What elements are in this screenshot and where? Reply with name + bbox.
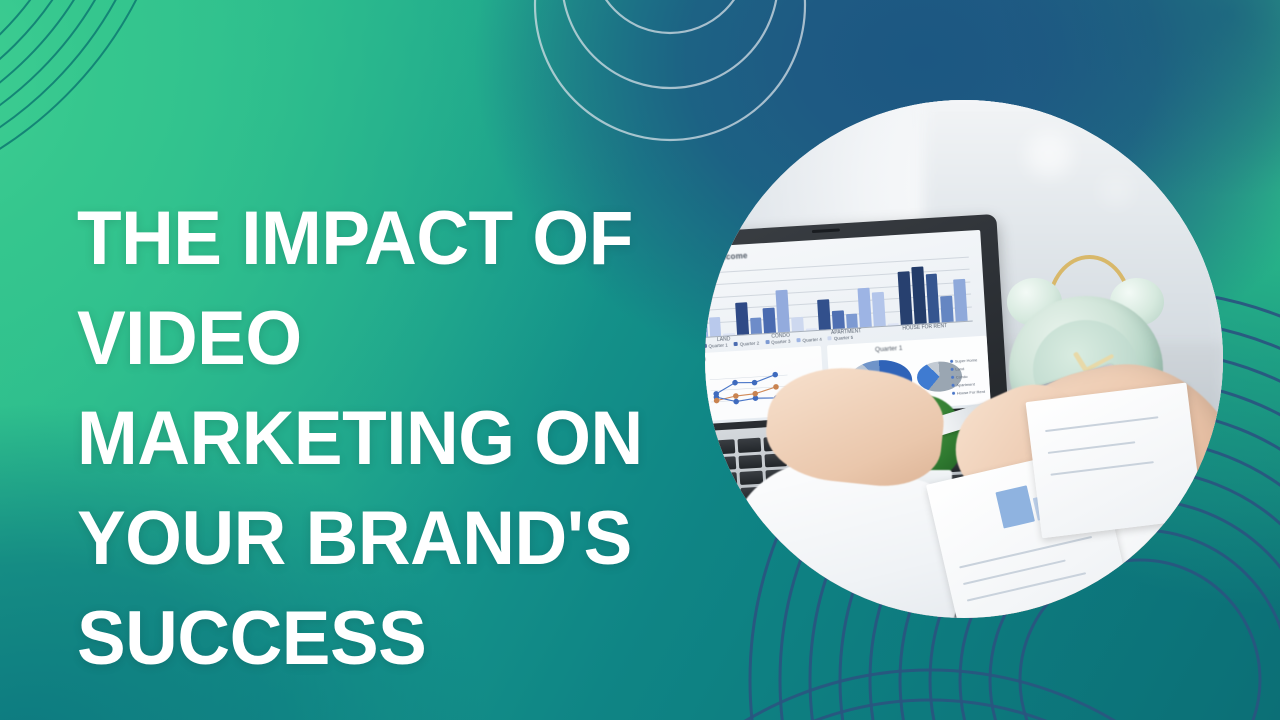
screen-bar-chart-title: Gross Income	[705, 251, 747, 263]
headline-line-4: YOUR BRAND'S	[77, 489, 653, 589]
bokeh-3	[1150, 121, 1178, 149]
laptop-camera-icon	[812, 229, 839, 234]
screen-pie-chart-title: Quarter 1	[874, 345, 902, 354]
pie-legend-3: Apartment	[956, 381, 975, 387]
circular-photo-business-analytics: Gross Income	[705, 100, 1223, 618]
headline-line-5: SUCCESS	[77, 589, 653, 689]
pie-legend-1: Land	[955, 366, 964, 372]
legend-q1: Quarter 1	[708, 342, 728, 348]
pie-chart-legend: Super Home Land Condo Apartment House Fo…	[949, 357, 984, 396]
headline-line-1: THE IMPACT OF	[77, 189, 653, 289]
screen-bar-chart: LAND CONDO APARTMENT HOUSE FOR RENT Quar…	[705, 252, 973, 347]
legend-q4: Quarter 4	[802, 337, 822, 343]
legend-q3: Quarter 3	[771, 338, 791, 344]
legend-q2: Quarter 2	[739, 340, 759, 346]
headline-line-3: MARKETING ON	[77, 389, 653, 489]
legend-q5: Quarter 5	[833, 335, 853, 341]
bokeh-1	[1026, 131, 1072, 177]
page-title: THE IMPACT OF VIDEO MARKETING ON YOUR BR…	[77, 189, 653, 689]
banner-canvas: Gross Income	[0, 0, 1280, 720]
photo-scene: Gross Income	[705, 100, 1223, 618]
bar-category-3: HOUSE FOR RENT	[902, 323, 947, 332]
headline-line-2: VIDEO	[77, 289, 653, 389]
report-page-2	[1026, 382, 1204, 537]
pie-legend-0: Super Home	[954, 357, 977, 363]
bokeh-2	[1099, 173, 1133, 207]
pie-legend-2: Condo	[955, 374, 967, 380]
clock-hour-hand	[1073, 352, 1088, 372]
